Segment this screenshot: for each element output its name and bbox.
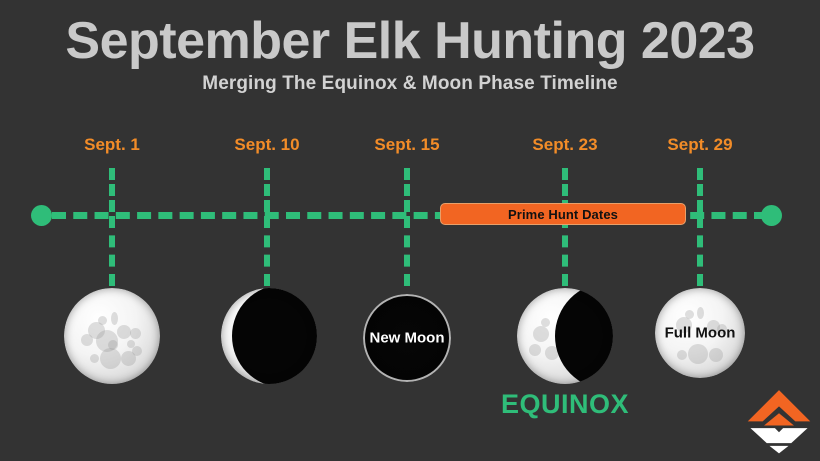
page-title: September Elk Hunting 2023 [0, 14, 820, 69]
date-label-sept-23: Sept. 23 [532, 135, 597, 155]
infographic-canvas: September Elk Hunting 2023 Merging The E… [0, 0, 820, 461]
date-label-sept-15: Sept. 15 [374, 135, 439, 155]
connector-lower-sept-15 [404, 216, 410, 286]
date-label-sept-29: Sept. 29 [667, 135, 732, 155]
moon-label-full-moon: Full Moon [655, 325, 745, 342]
moon-sept-15: New Moon [363, 294, 451, 382]
page-subtitle: Merging The Equinox & Moon Phase Timelin… [0, 73, 820, 95]
connector-upper-sept-29 [697, 168, 703, 212]
moon-sept-10 [221, 288, 317, 384]
gohunt-logo[interactable] [744, 386, 814, 454]
logo-arrow-icon [744, 386, 814, 454]
moon-sept-29: Full Moon [655, 288, 745, 378]
connector-lower-sept-10 [264, 216, 270, 286]
equinox-annotation: EQUINOX [501, 389, 629, 420]
date-label-sept-10: Sept. 10 [234, 135, 299, 155]
header: September Elk Hunting 2023 Merging The E… [0, 14, 820, 95]
timeline-endpoint-left [31, 205, 52, 226]
date-label-sept-1: Sept. 1 [84, 135, 140, 155]
moon-sept-23 [517, 288, 613, 384]
connector-lower-sept-29 [697, 216, 703, 286]
connector-lower-sept-23 [562, 216, 568, 286]
moon-rim [64, 288, 160, 384]
moon-sept-1 [64, 288, 160, 384]
connector-upper-sept-15 [404, 168, 410, 212]
connector-lower-sept-1 [109, 216, 115, 286]
moon-rim [517, 288, 613, 384]
moon-label-new-moon: New Moon [363, 330, 451, 347]
prime-hunt-dates-label: Prime Hunt Dates [508, 207, 618, 222]
timeline-endpoint-right [761, 205, 782, 226]
prime-hunt-dates-bar[interactable]: Prime Hunt Dates [440, 203, 686, 225]
connector-upper-sept-1 [109, 168, 115, 212]
moon-rim [221, 288, 317, 384]
connector-upper-sept-10 [264, 168, 270, 212]
